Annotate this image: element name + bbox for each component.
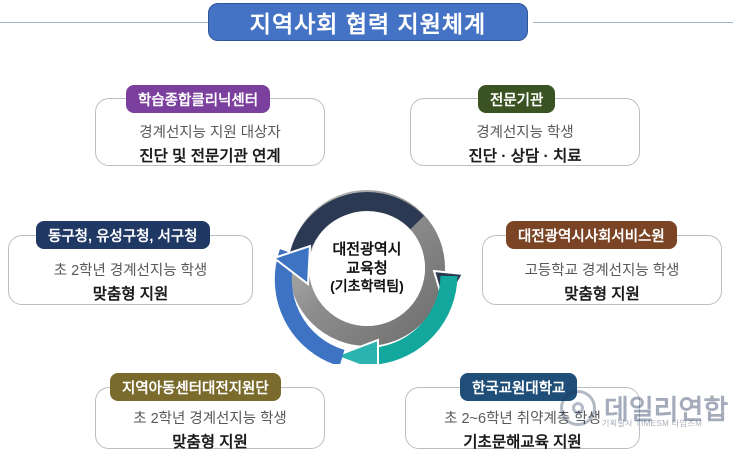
title-rule-right — [533, 22, 733, 23]
diagram-canvas: 지역사회 협력 지원체계 경계선지능 지원 대상자 진단 및 전문기관 연계 학… — [0, 0, 733, 452]
pill-community-child-center-daejeon: 지역아동센터대전지원단 — [110, 373, 281, 401]
pill-district-offices: 동구청, 유성구청, 서구청 — [36, 221, 210, 249]
box-line1: 경계선지능 학생 — [476, 121, 573, 142]
pill-korea-national-univ-of-education: 한국교원대학교 — [460, 373, 577, 401]
box-line2: 진단 및 전문기관 연계 — [139, 144, 280, 166]
box-line2: 진단 · 상담 · 치료 — [468, 144, 581, 166]
pill-learning-clinic-center: 학습종합클리닉센터 — [126, 85, 270, 113]
page-title: 지역사회 협력 지원체계 — [208, 3, 528, 41]
box-line2: 맞춤형 지원 — [172, 430, 248, 452]
box-line1: 고등학교 경계선지능 학생 — [525, 259, 680, 280]
box-line1: 초 2학년 경계선지능 학생 — [54, 259, 208, 280]
box-line2: 맞춤형 지원 — [93, 282, 169, 304]
title-rule-left — [0, 22, 220, 23]
box-line2: 맞춤형 지원 — [564, 282, 640, 304]
pill-daejeon-social-service-agency: 대전광역시사회서비스원 — [506, 221, 677, 249]
box-line1: 초 2~6학년 취약계층 학생 — [444, 407, 601, 428]
box-line1: 경계선지능 지원 대상자 — [139, 121, 280, 142]
center-cycle-graphic: 대전광역시 교육청 (기초학력팀) — [258, 172, 476, 364]
box-line2: 기초문해교육 지원 — [463, 430, 581, 452]
box-line1: 초 2학년 경계선지능 학생 — [133, 407, 287, 428]
pill-specialized-agency: 전문기관 — [478, 85, 555, 113]
